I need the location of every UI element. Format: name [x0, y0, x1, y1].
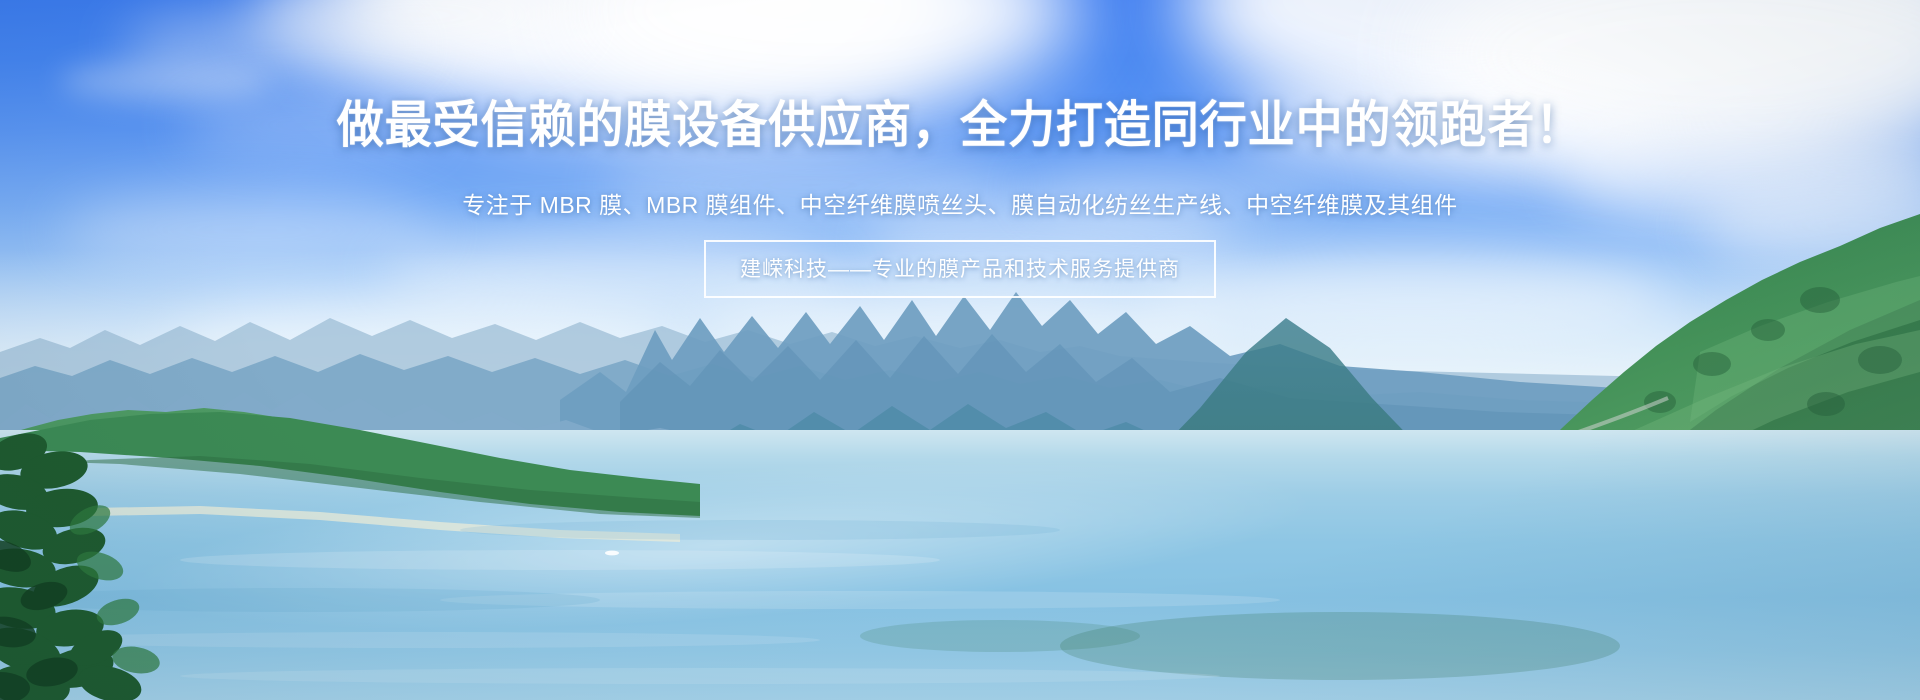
- banner-tagline-wrapper: 建嵘科技——专业的膜产品和技术服务提供商: [0, 240, 1920, 298]
- banner-headline: 做最受信赖的膜设备供应商，全力打造同行业中的领跑者！: [58, 98, 1863, 153]
- banner-tagline-box: 建嵘科技——专业的膜产品和技术服务提供商: [704, 240, 1216, 298]
- banner-subheadline: 专注于 MBR 膜、MBR 膜组件、中空纤维膜喷丝头、膜自动化纺丝生产线、中空纤…: [0, 186, 1920, 220]
- banner-copy: 做最受信赖的膜设备供应商，全力打造同行业中的领跑者！ 专注于 MBR 膜、MBR…: [0, 0, 1920, 700]
- hero-banner: 做最受信赖的膜设备供应商，全力打造同行业中的领跑者！ 专注于 MBR 膜、MBR…: [0, 0, 1920, 700]
